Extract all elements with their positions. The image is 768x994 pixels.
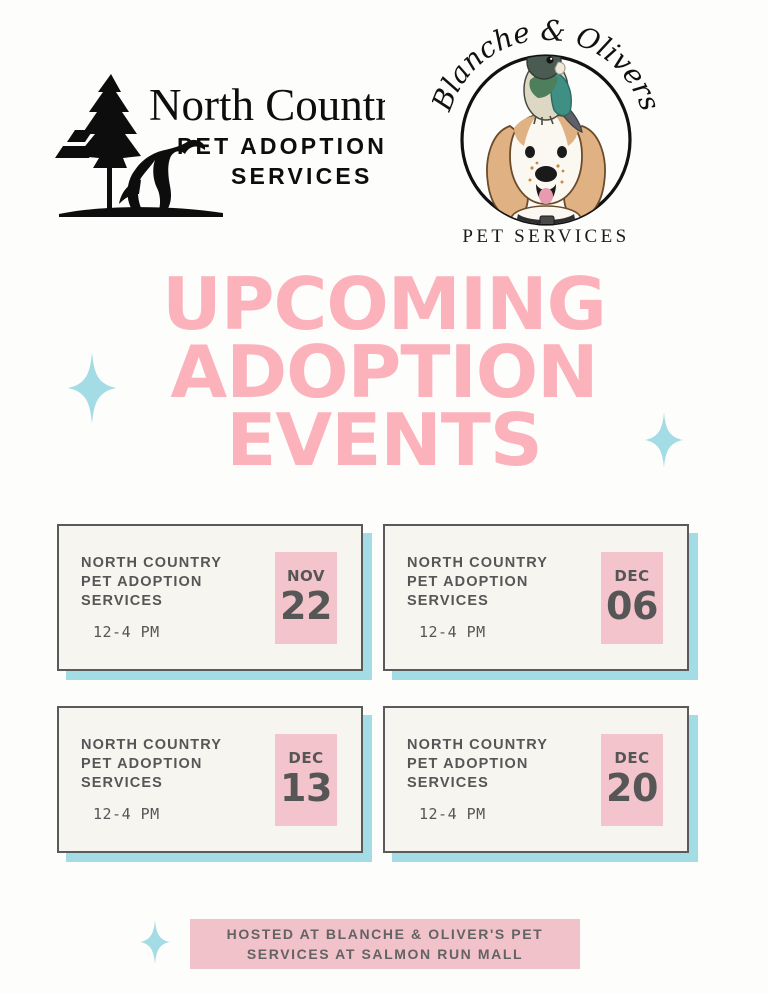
card-date-badge: DEC 20 — [601, 734, 663, 826]
card-day: 06 — [606, 585, 658, 627]
card-body[interactable]: NORTH COUNTRY PET ADOPTION SERVICES 12-4… — [383, 706, 689, 853]
card-text: NORTH COUNTRY PET ADOPTION SERVICES 12-4… — [59, 736, 275, 823]
sparkle-diamond-icon-footer — [140, 920, 170, 964]
north-country-wordmark-line1: North Country — [149, 80, 385, 130]
title-line-1: UPCOMING — [0, 270, 768, 338]
card-month: DEC — [614, 750, 649, 766]
footer-banner: HOSTED AT BLANCHE & OLIVER'S PET SERVICE… — [190, 919, 580, 969]
card-date-badge: NOV 22 — [275, 552, 337, 644]
card-body[interactable]: NORTH COUNTRY PET ADOPTION SERVICES 12-4… — [383, 524, 689, 671]
event-card[interactable]: NORTH COUNTRY PET ADOPTION SERVICES 12-4… — [57, 706, 363, 853]
card-month: NOV — [287, 568, 325, 584]
card-month: DEC — [614, 568, 649, 584]
card-text: NORTH COUNTRY PET ADOPTION SERVICES 12-4… — [59, 554, 275, 641]
north-country-wordmark-line2: PET ADOPTION — [177, 133, 385, 159]
dog-right-eye — [557, 146, 567, 158]
card-date-badge: DEC 13 — [275, 734, 337, 826]
north-country-wordmark-line3: SERVICES — [231, 163, 373, 189]
dog-tongue — [539, 188, 553, 204]
event-card[interactable]: NORTH COUNTRY PET ADOPTION SERVICES 12-4… — [57, 524, 363, 671]
blanche-olivers-subtitle: PET SERVICES — [462, 226, 629, 247]
card-date-badge: DEC 06 — [601, 552, 663, 644]
card-text: NORTH COUNTRY PET ADOPTION SERVICES 12-4… — [385, 554, 601, 641]
card-time: 12-4 PM — [81, 805, 275, 823]
blanche-olivers-logo-graphic: Blanche & Olivers — [432, 18, 660, 250]
north-country-logo-graphic: North Country PET ADOPTION SERVICES — [55, 68, 385, 218]
card-body[interactable]: NORTH COUNTRY PET ADOPTION SERVICES 12-4… — [57, 706, 363, 853]
card-org-name: NORTH COUNTRY PET ADOPTION SERVICES — [81, 736, 231, 793]
ground-line — [59, 207, 223, 217]
card-day: 20 — [606, 767, 658, 809]
sparkle-diamond-icon-right — [645, 412, 683, 468]
sparkle-diamond-icon-left — [68, 352, 116, 424]
card-text: NORTH COUNTRY PET ADOPTION SERVICES 12-4… — [385, 736, 601, 823]
card-org-name: NORTH COUNTRY PET ADOPTION SERVICES — [407, 736, 557, 793]
card-time: 12-4 PM — [407, 805, 601, 823]
blanche-olivers-logo: Blanche & Olivers — [432, 18, 660, 250]
dog-left-eye — [525, 146, 535, 158]
card-time: 12-4 PM — [407, 623, 601, 641]
card-day: 22 — [280, 585, 332, 627]
event-cards-grid: NORTH COUNTRY PET ADOPTION SERVICES 12-4… — [57, 524, 717, 853]
event-card[interactable]: NORTH COUNTRY PET ADOPTION SERVICES 12-4… — [383, 524, 689, 671]
footer-text: HOSTED AT BLANCHE & OLIVER'S PET SERVICE… — [205, 924, 565, 964]
card-day: 13 — [280, 767, 332, 809]
parrot-eye — [546, 56, 553, 63]
card-body[interactable]: NORTH COUNTRY PET ADOPTION SERVICES 12-4… — [57, 524, 363, 671]
dog-nose — [535, 166, 557, 182]
event-card[interactable]: NORTH COUNTRY PET ADOPTION SERVICES 12-4… — [383, 706, 689, 853]
card-org-name: NORTH COUNTRY PET ADOPTION SERVICES — [407, 554, 557, 611]
parrot-head — [527, 45, 561, 79]
card-time: 12-4 PM — [81, 623, 275, 641]
card-month: DEC — [288, 750, 323, 766]
card-org-name: NORTH COUNTRY PET ADOPTION SERVICES — [81, 554, 231, 611]
north-country-logo: North Country PET ADOPTION SERVICES — [55, 68, 385, 218]
header-logos: North Country PET ADOPTION SERVICES Blan… — [0, 0, 768, 255]
